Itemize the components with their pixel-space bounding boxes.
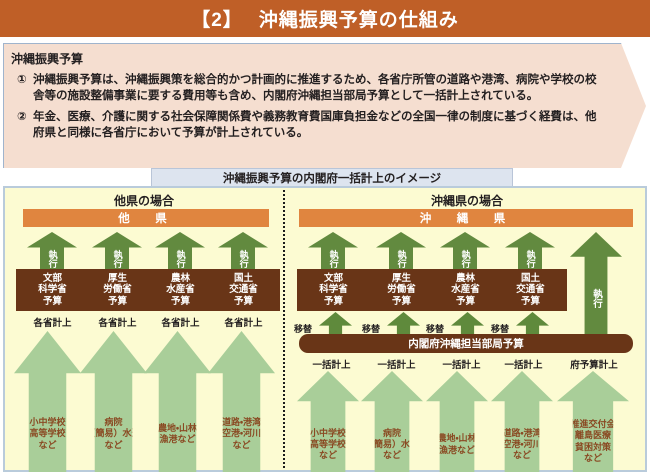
project-arrow: 病院 （簡易）水道 など [80, 331, 147, 472]
count-label: 各省計上 [207, 315, 280, 329]
exec-arrow: 執行 [440, 232, 490, 269]
project-line: など [222, 440, 261, 451]
ministry-box: 厚生 労働省 予算 [365, 269, 438, 311]
exec-arrow-tall-label: 執行 [591, 289, 601, 308]
count-label: 一括計上 [295, 357, 368, 371]
ministry-line: 予算 [451, 296, 480, 307]
ministry-line: 農林 [166, 273, 195, 284]
other-prefecture-panel: 他県の場合 他 県 執行 執行 執行 執行 文部 科学省 予算 厚生 労働省 [5, 188, 283, 470]
project-line: 小中学校 [29, 417, 65, 428]
page-title-bar: 【2】 沖縄振興予算の仕組み [0, 0, 650, 37]
project-arrow: 小中学校 高等学校 など [297, 371, 359, 472]
project-line: など [502, 450, 541, 461]
ministry-line: 科学省 [38, 284, 67, 295]
ministry-line: 労働省 [387, 284, 416, 295]
count-label: 各省計上 [16, 315, 89, 329]
project-line: 道路・港湾 [222, 417, 261, 428]
project-line: 離島医療 [570, 430, 615, 441]
other-prefecture-title: 他県の場合 [5, 192, 283, 209]
ministry-box: 国土 交通省 予算 [494, 269, 567, 311]
ministry-line: 厚生 [103, 273, 132, 284]
exec-arrow-label: 執行 [460, 250, 469, 268]
project-line: 漁港など [158, 434, 197, 445]
ministry-line: 国土 [229, 273, 258, 284]
project-arrow: 推進交付金 離島医療 貧困対策 など [557, 371, 629, 472]
description-item: ② 年金、医療、介護に関する社会保障関係費や義務教育費国庫負担金などの全国一律の… [11, 109, 607, 142]
exec-arrow-label: 執行 [175, 250, 184, 268]
ministry-line: 文部 [319, 273, 348, 284]
exec-arrow-label: 執行 [112, 250, 121, 268]
exec-arrow: 執行 [308, 232, 358, 269]
project-arrow: 農地・山林 漁港など [426, 371, 488, 472]
ministry-line: 予算 [103, 296, 132, 307]
project-line: （簡易）水道 [365, 439, 419, 450]
transfer-arrow [451, 312, 484, 334]
exec-arrow-tall: 執行 [570, 232, 622, 350]
project-line: など [86, 440, 140, 451]
exec-arrow: 執行 [92, 232, 142, 269]
ministry-box: 文部 科学省 予算 [16, 269, 89, 311]
ministry-line: 交通省 [229, 284, 258, 295]
exec-arrow: 執行 [505, 232, 555, 269]
project-line: 空港・河川 [502, 439, 541, 450]
project-line: 小中学校 [310, 428, 346, 439]
exec-arrow-label: 執行 [396, 250, 405, 268]
ministry-box: 農林 水産省 予算 [429, 269, 502, 311]
project-line: 高等学校 [310, 439, 346, 450]
ministry-line: 予算 [516, 296, 545, 307]
project-line: 高等学校 [29, 428, 65, 439]
project-line: 推進交付金 [570, 419, 615, 430]
project-line: 漁港など [437, 445, 476, 456]
other-prefecture-bar: 他 県 [23, 209, 269, 227]
exec-arrow: 執行 [376, 232, 426, 269]
exec-arrow-label: 執行 [328, 250, 337, 268]
ministry-line: 交通省 [516, 284, 545, 295]
description-item-text: 年金、医療、介護に関する社会保障関係費や義務教育費国庫負担金などの全国一律の制度… [33, 109, 607, 142]
page-title-text: 沖縄振興予算の仕組み [259, 5, 459, 32]
okinawa-panel: 沖縄県の場合 沖 縄 県 執行 執行 執行 執行 執行 文部 科学省 予算 [289, 188, 645, 470]
project-line: （簡易）水道 [86, 428, 140, 439]
ministry-line: 農林 [451, 273, 480, 284]
ministry-line: 水産省 [451, 284, 480, 295]
exec-arrow: 執行 [218, 232, 268, 269]
transfer-arrow [516, 312, 549, 334]
project-arrow: 病院 （簡易）水道 など [361, 371, 423, 472]
description-item: ① 沖縄振興予算は、沖縄振興策を総合的かつ計画的に推進するため、各省庁所管の道路… [11, 72, 607, 105]
count-label-cabinet: 府予算計上 [553, 357, 635, 371]
ministry-line: 予算 [229, 296, 258, 307]
project-line: 農地・山林 [158, 423, 197, 434]
description-item-text: 沖縄振興予算は、沖縄振興策を総合的かつ計画的に推進するため、各省庁所管の道路や港… [33, 72, 607, 105]
ministry-line: 国土 [516, 273, 545, 284]
okinawa-title: 沖縄県の場合 [289, 192, 645, 209]
project-line: など [570, 453, 615, 464]
description-item-marker: ① [11, 72, 33, 105]
okinawa-prefecture-bar: 沖 縄 県 [299, 209, 633, 227]
ministry-line: 労働省 [103, 284, 132, 295]
ministry-line: 予算 [166, 296, 195, 307]
exec-arrow: 執行 [155, 232, 205, 269]
diagram-subtitle-banner: 沖縄振興予算の内閣府一括計上のイメージ [151, 168, 513, 188]
project-arrow: 農地・山林 漁港など [144, 331, 211, 472]
project-line: 農地・山林 [437, 433, 476, 444]
ministry-line: 予算 [387, 296, 416, 307]
project-line: など [365, 450, 419, 461]
cabinet-office-budget-bar: 内閣府沖縄担当部局予算 [299, 334, 633, 353]
description-heading: 沖縄振興予算 [11, 50, 607, 67]
panel-divider [283, 190, 285, 468]
project-arrow: 道路・港湾 空港・河川 など [208, 331, 275, 472]
transfer-arrow [387, 312, 420, 334]
project-line: 空港・河川 [222, 428, 261, 439]
budget-flow-diagram: 他県の場合 他 県 執行 執行 執行 執行 文部 科学省 予算 厚生 労働省 [3, 186, 647, 472]
ministry-line: 予算 [319, 296, 348, 307]
project-line: など [310, 450, 346, 461]
ministry-line: 科学省 [319, 284, 348, 295]
project-line: など [29, 440, 65, 451]
exec-arrow-label: 執行 [238, 250, 247, 268]
exec-arrow: 執行 [27, 232, 77, 269]
count-label: 一括計上 [360, 357, 433, 371]
ministry-line: 文部 [38, 273, 67, 284]
ministry-box: 文部 科学省 予算 [297, 269, 370, 311]
ministry-line: 予算 [38, 296, 67, 307]
count-label: 一括計上 [487, 357, 560, 371]
project-line: 病院 [86, 417, 140, 428]
ministry-line: 厚生 [387, 273, 416, 284]
project-line: 道路・港湾 [502, 428, 541, 439]
ministry-box: 国土 交通省 予算 [207, 269, 280, 311]
transfer-arrow [319, 312, 352, 334]
project-arrow: 道路・港湾 空港・河川 など [491, 371, 553, 472]
page-title-number: 【2】 [191, 5, 243, 32]
description-item-marker: ② [11, 109, 33, 142]
project-line: 病院 [365, 428, 419, 439]
project-arrow: 小中学校 高等学校 など [14, 331, 81, 472]
project-line: 貧困対策 [570, 442, 615, 453]
ministry-line: 水産省 [166, 284, 195, 295]
description-callout: 沖縄振興予算 ① 沖縄振興予算は、沖縄振興策を総合的かつ計画的に推進するため、各… [3, 43, 647, 169]
exec-arrow-label: 執行 [525, 250, 534, 268]
exec-arrow-label: 執行 [47, 250, 56, 268]
